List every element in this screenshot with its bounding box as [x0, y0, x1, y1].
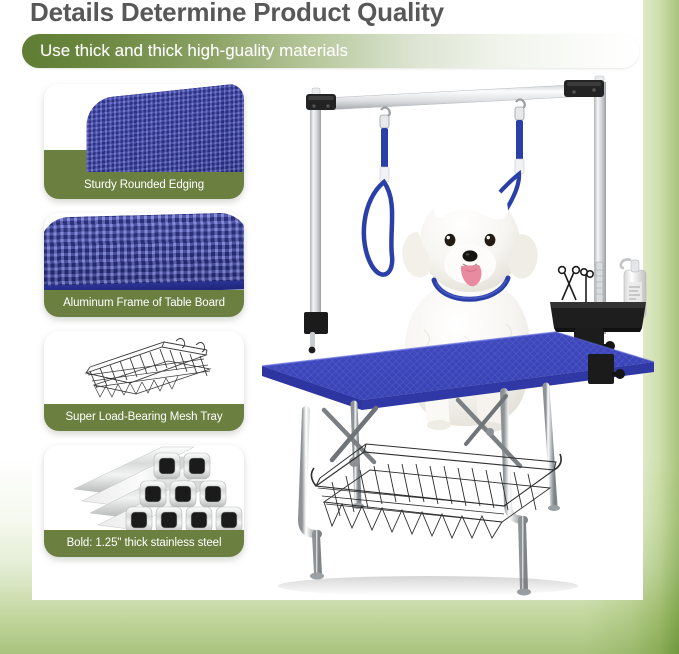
table-clamp-left: [304, 312, 328, 353]
grooming-table-illustration: [258, 74, 658, 604]
mat-corner-image: [44, 84, 244, 172]
feature-label-stainless-steel: Bold: 1.25" thick stainless steel: [44, 530, 244, 557]
mat-edge-image: [44, 213, 244, 290]
feature-label-rounded-edging: Sturdy Rounded Edging: [44, 172, 244, 199]
feature-label-aluminum-frame: Aluminum Frame of Table Board: [44, 290, 244, 317]
feature-label-mesh-tray: Super Load-Bearing Mesh Tray: [44, 404, 244, 431]
feature-card-stainless-steel: Bold: 1.25" thick stainless steel: [44, 445, 244, 557]
header: Details Determine Product Quality Use th…: [0, 0, 679, 72]
subtitle-text: Use thick and thick high-guality materia…: [40, 41, 348, 61]
ground-shadow: [278, 576, 578, 596]
page-title: Details Determine Product Quality: [30, 0, 444, 28]
feature-card-mesh-tray: Super Load-Bearing Mesh Tray: [44, 331, 244, 431]
wire-mesh-tray-icon: [44, 331, 244, 404]
feature-card-aluminum-frame: Aluminum Frame of Table Board: [44, 213, 244, 317]
mesh-tray-image: [44, 331, 244, 404]
steel-tubes-image: [44, 445, 244, 530]
feature-card-rounded-edging: Sturdy Rounded Edging: [44, 84, 244, 199]
blue-mat-edge-icon: [44, 213, 244, 290]
noose-left: [364, 108, 392, 275]
product-image-grooming-table: [258, 74, 658, 604]
square-steel-tubes-icon: [44, 445, 244, 530]
blue-mat-corner-icon: [87, 84, 244, 172]
feature-card-list: Sturdy Rounded Edging Aluminum Frame of …: [44, 84, 244, 571]
